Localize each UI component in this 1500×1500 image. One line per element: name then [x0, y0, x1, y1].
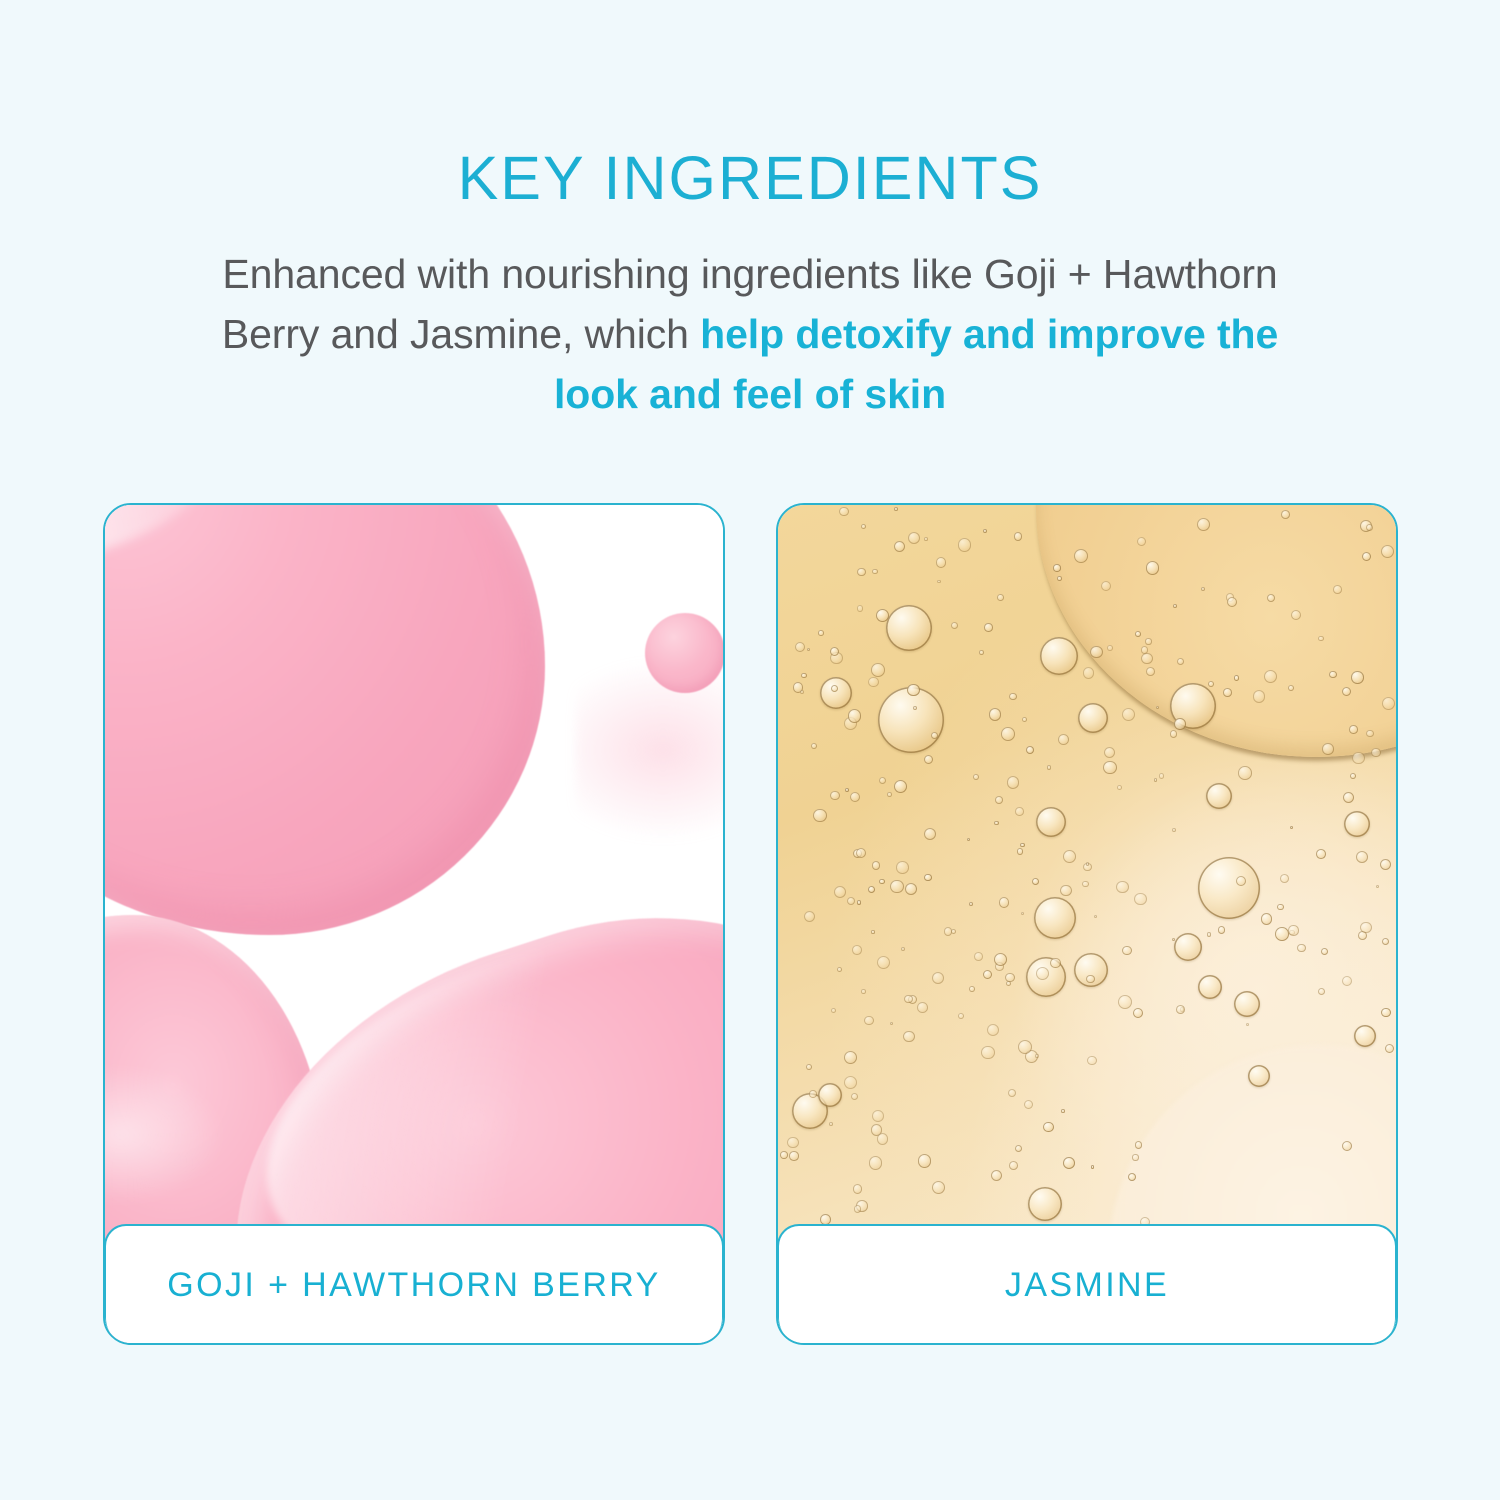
oil-bubble	[913, 706, 917, 710]
oil-bubble	[1022, 717, 1027, 722]
oil-bubble	[1005, 973, 1015, 983]
card-label-panel-jasmine: JASMINE	[777, 1224, 1397, 1344]
oil-bubble	[1028, 1187, 1062, 1221]
oil-bubble	[1288, 925, 1298, 935]
oil-bubble	[811, 743, 817, 749]
oil-bubble	[886, 605, 932, 651]
oil-bubble	[844, 1051, 857, 1064]
oil-bubble	[1177, 658, 1184, 665]
oil-bubble	[1061, 1109, 1065, 1113]
oil-bubble	[1380, 859, 1391, 870]
oil-bubble	[1208, 681, 1214, 687]
page-subtitle: Enhanced with nourishing ingredients lik…	[185, 209, 1315, 425]
oil-bubble	[1342, 976, 1352, 986]
oil-bubble	[1094, 915, 1097, 918]
oil-bubble	[896, 861, 908, 873]
oil-bubble	[1116, 881, 1128, 893]
oil-bubble	[1015, 807, 1024, 816]
oil-bubble	[1351, 671, 1363, 683]
card-label-goji-hawthorn-berry: GOJI + HAWTHORN BERRY	[167, 1266, 660, 1305]
oil-bubble	[861, 989, 866, 994]
oil-bubble	[1145, 638, 1151, 644]
oil-bubble	[872, 1110, 884, 1122]
oil-bubble	[1063, 850, 1076, 863]
oil-bubble	[857, 568, 865, 576]
oil-bubble	[1381, 1008, 1391, 1018]
oil-bubble	[852, 945, 862, 955]
oil-bubble	[1047, 765, 1051, 769]
oil-bubble	[1132, 1154, 1138, 1160]
oil-bubble	[1026, 746, 1034, 754]
oil-bubble	[1172, 828, 1176, 832]
ingredient-card-jasmine[interactable]: JASMINE	[776, 503, 1398, 1345]
oil-bubble	[908, 532, 920, 544]
oil-bubble	[845, 788, 849, 792]
oil-bubble	[1174, 933, 1202, 961]
oil-bubble	[969, 986, 975, 992]
oil-bubble	[1297, 944, 1306, 953]
oil-bubble	[1290, 826, 1293, 829]
oil-bubble	[1018, 1040, 1032, 1054]
oil-bubble	[800, 690, 804, 694]
oil-bubble	[857, 605, 864, 612]
oil-bubble	[894, 780, 907, 793]
oil-bubble	[1040, 637, 1078, 675]
oil-bubble	[1128, 1173, 1136, 1181]
oil-bubble	[1063, 1157, 1075, 1169]
oil-bubble	[958, 538, 971, 551]
oil-bubble	[1352, 752, 1365, 765]
oil-bubble	[879, 879, 885, 885]
oil-bubble	[979, 650, 984, 655]
oil-bubble	[871, 663, 885, 677]
oil-bubble	[1267, 594, 1275, 602]
oil-bubble	[830, 791, 839, 800]
oil-bubble	[890, 880, 904, 894]
ingredient-card-list: GOJI + HAWTHORN BERRY JASMINE	[103, 503, 1398, 1345]
oil-bubble	[839, 507, 849, 517]
oil-bubble	[848, 709, 862, 723]
oil-bubble	[789, 1151, 798, 1160]
oil-bubble	[1017, 848, 1024, 855]
oil-bubble	[944, 927, 952, 935]
oil-bubble	[894, 541, 905, 552]
oil-bubble	[869, 1156, 882, 1169]
oil-bubble	[1146, 561, 1159, 574]
oil-bubble	[999, 897, 1010, 908]
oil-bubble	[1001, 727, 1015, 741]
oil-bubble	[1117, 785, 1122, 790]
oil-bubble	[1058, 734, 1069, 745]
oil-bubble	[1036, 807, 1066, 837]
oil-bubble	[1280, 874, 1289, 883]
oil-bubble	[829, 1122, 833, 1126]
oil-bubble	[1091, 1165, 1094, 1168]
oil-bubble	[1344, 811, 1370, 837]
oil-bubble	[894, 507, 898, 511]
oil-bubble	[1074, 549, 1088, 563]
oil-bubble	[878, 687, 944, 753]
oil-bubble	[871, 930, 874, 933]
oil-bubble	[879, 777, 886, 784]
oil-bubble	[974, 952, 983, 961]
oil-bubble	[801, 673, 806, 678]
oil-bubble	[1154, 778, 1158, 782]
oil-bubble	[1103, 761, 1116, 774]
oil-bubble	[932, 1181, 945, 1194]
oil-bubble	[987, 1024, 999, 1036]
oil-bubble	[1057, 576, 1062, 581]
oil-bubble	[1261, 913, 1273, 925]
oil-bubble	[1008, 1089, 1016, 1097]
oil-bubble	[1086, 862, 1089, 865]
oil-bubble	[844, 1076, 857, 1089]
oil-bubble	[872, 569, 878, 575]
oil-bubble	[1034, 897, 1076, 939]
oil-bubble	[872, 861, 881, 870]
oil-bubble	[981, 1046, 995, 1060]
oil-bubble	[887, 792, 892, 797]
oil-bubble	[969, 902, 973, 906]
oil-bubble	[1288, 685, 1294, 691]
oil-bubble	[853, 1184, 862, 1193]
oil-bubble	[818, 630, 824, 636]
oil-bubble	[834, 886, 846, 898]
oil-bubble	[1322, 743, 1334, 755]
oil-bubble	[868, 677, 878, 687]
oil-bubble	[1376, 885, 1379, 888]
oil-bubble	[1053, 564, 1060, 571]
oil-bubble	[1329, 671, 1336, 678]
oil-bubble	[1318, 636, 1323, 641]
oil-bubble	[1134, 893, 1147, 906]
oil-bubble	[1291, 610, 1301, 620]
oil-bubble	[984, 623, 992, 631]
oil-bubble	[1366, 730, 1374, 738]
card-label-jasmine: JASMINE	[1005, 1266, 1169, 1305]
oil-bubble	[1349, 725, 1357, 733]
oil-bubble	[994, 821, 999, 826]
oil-bubble	[1371, 748, 1380, 757]
oil-bubble	[1043, 1122, 1054, 1133]
oil-bubble	[1343, 792, 1354, 803]
oil-bubble	[924, 755, 933, 764]
oil-bubble	[1086, 975, 1094, 983]
oil-bubble	[1248, 1065, 1270, 1087]
oil-bubble	[932, 972, 944, 984]
pink-serum-image	[105, 505, 723, 1343]
oil-bubble	[918, 1154, 932, 1168]
page-title: KEY INGREDIENTS	[0, 0, 1500, 209]
oil-bubble	[1141, 653, 1152, 664]
oil-bubble	[1206, 783, 1232, 809]
oil-bubble	[820, 677, 852, 709]
oil-bubble	[809, 1090, 816, 1097]
oil-bubble	[1342, 1141, 1352, 1151]
oil-bubble	[1234, 675, 1239, 680]
oil-bubble	[989, 708, 1002, 721]
oil-bubble	[1060, 885, 1071, 896]
oil-bubble	[1382, 938, 1389, 945]
oil-bubble	[937, 580, 941, 584]
oil-bubble	[1223, 688, 1232, 697]
oil-bubble	[1050, 958, 1060, 968]
oil-bubble	[1275, 927, 1289, 941]
oil-bubble	[951, 622, 958, 629]
oil-bubble	[780, 1151, 787, 1158]
oil-bubble	[831, 1008, 836, 1013]
oil-bubble	[991, 1170, 1002, 1181]
oil-bubble	[1035, 1054, 1038, 1057]
oil-bubble	[958, 1013, 964, 1019]
oil-bubble	[924, 874, 932, 882]
oil-bubble	[1253, 690, 1266, 703]
oil-bubble	[1333, 585, 1342, 594]
oil-bubble	[1170, 730, 1177, 737]
oil-bubble	[1174, 718, 1186, 730]
key-ingredients-page: KEY INGREDIENTS Enhanced with nourishing…	[0, 0, 1500, 1500]
oil-bubble	[1014, 532, 1022, 540]
oil-bubble	[1362, 552, 1371, 561]
header: KEY INGREDIENTS Enhanced with nourishing…	[0, 0, 1500, 425]
oil-bubble	[1246, 1023, 1249, 1026]
oil-bubble	[997, 594, 1004, 601]
oil-bubble	[924, 537, 928, 541]
card-label-panel-goji-hawthorn-berry: GOJI + HAWTHORN BERRY	[104, 1224, 724, 1344]
oil-bubble	[847, 897, 855, 905]
oil-bubble	[818, 1083, 842, 1107]
oil-bubble	[1090, 646, 1103, 659]
oil-bubble	[1354, 1025, 1376, 1047]
oil-bubble	[850, 792, 860, 802]
oil-bubble	[1087, 1056, 1097, 1066]
oil-bubble	[1198, 857, 1260, 919]
oil-bubble	[1159, 773, 1164, 778]
oil-bubble	[1218, 926, 1226, 934]
oil-bubble	[806, 1064, 812, 1070]
oil-bubble	[1078, 703, 1108, 733]
oil-bubble	[1009, 693, 1016, 700]
oil-bubble	[1107, 645, 1113, 651]
oil-bubble	[1173, 604, 1177, 608]
oil-bubble	[1122, 946, 1132, 956]
oil-bubble	[1082, 881, 1089, 888]
oil-bubble	[1238, 766, 1252, 780]
ingredient-card-goji-hawthorn-berry[interactable]: GOJI + HAWTHORN BERRY	[103, 503, 725, 1345]
oil-bubble	[1234, 991, 1260, 1017]
oil-bubble	[854, 1205, 862, 1213]
oil-bubble	[1032, 878, 1039, 885]
oil-bubble	[1360, 922, 1371, 933]
oil-bubble	[1281, 510, 1290, 519]
oil-bubble	[1176, 1005, 1185, 1014]
pink-blob-small-dot	[645, 613, 723, 693]
oil-bubble	[1141, 646, 1149, 654]
oil-bubble	[1350, 773, 1356, 779]
oil-bubble	[857, 900, 862, 905]
oil-bubble	[936, 557, 947, 568]
oil-bubble	[1382, 697, 1395, 710]
oil-bubble	[917, 1002, 928, 1013]
oil-bubble	[1198, 975, 1222, 999]
golden-oil-image	[778, 505, 1396, 1343]
